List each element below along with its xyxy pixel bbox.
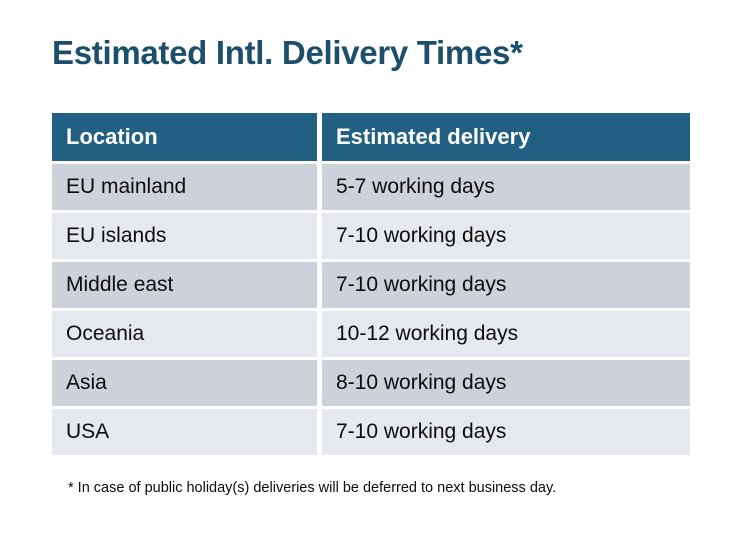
table-row: EU mainland 5-7 working days <box>52 164 690 210</box>
cell-location: USA <box>52 409 317 455</box>
table-header-row: Location Estimated delivery <box>52 113 690 161</box>
cell-location: Middle east <box>52 262 317 308</box>
cell-delivery: 7-10 working days <box>322 262 690 308</box>
cell-location: Oceania <box>52 311 317 357</box>
column-header-location: Location <box>52 113 317 161</box>
footnote-text: * In case of public holiday(s) deliverie… <box>68 480 556 496</box>
cell-delivery: 8-10 working days <box>322 360 690 406</box>
table-row: Asia 8-10 working days <box>52 360 690 406</box>
delivery-times-table: Location Estimated delivery EU mainland … <box>52 113 690 458</box>
cell-delivery: 7-10 working days <box>322 409 690 455</box>
cell-delivery: 7-10 working days <box>322 213 690 259</box>
cell-location: EU mainland <box>52 164 317 210</box>
cell-delivery: 5-7 working days <box>322 164 690 210</box>
column-header-estimated-delivery: Estimated delivery <box>322 113 690 161</box>
cell-location: EU islands <box>52 213 317 259</box>
cell-delivery: 10-12 working days <box>322 311 690 357</box>
table-row: Middle east 7-10 working days <box>52 262 690 308</box>
table-row: Oceania 10-12 working days <box>52 311 690 357</box>
cell-location: Asia <box>52 360 317 406</box>
table-row: USA 7-10 working days <box>52 409 690 455</box>
table-row: EU islands 7-10 working days <box>52 213 690 259</box>
page-title: Estimated Intl. Delivery Times* <box>52 34 523 72</box>
delivery-times-page: Estimated Intl. Delivery Times* Location… <box>0 0 745 536</box>
